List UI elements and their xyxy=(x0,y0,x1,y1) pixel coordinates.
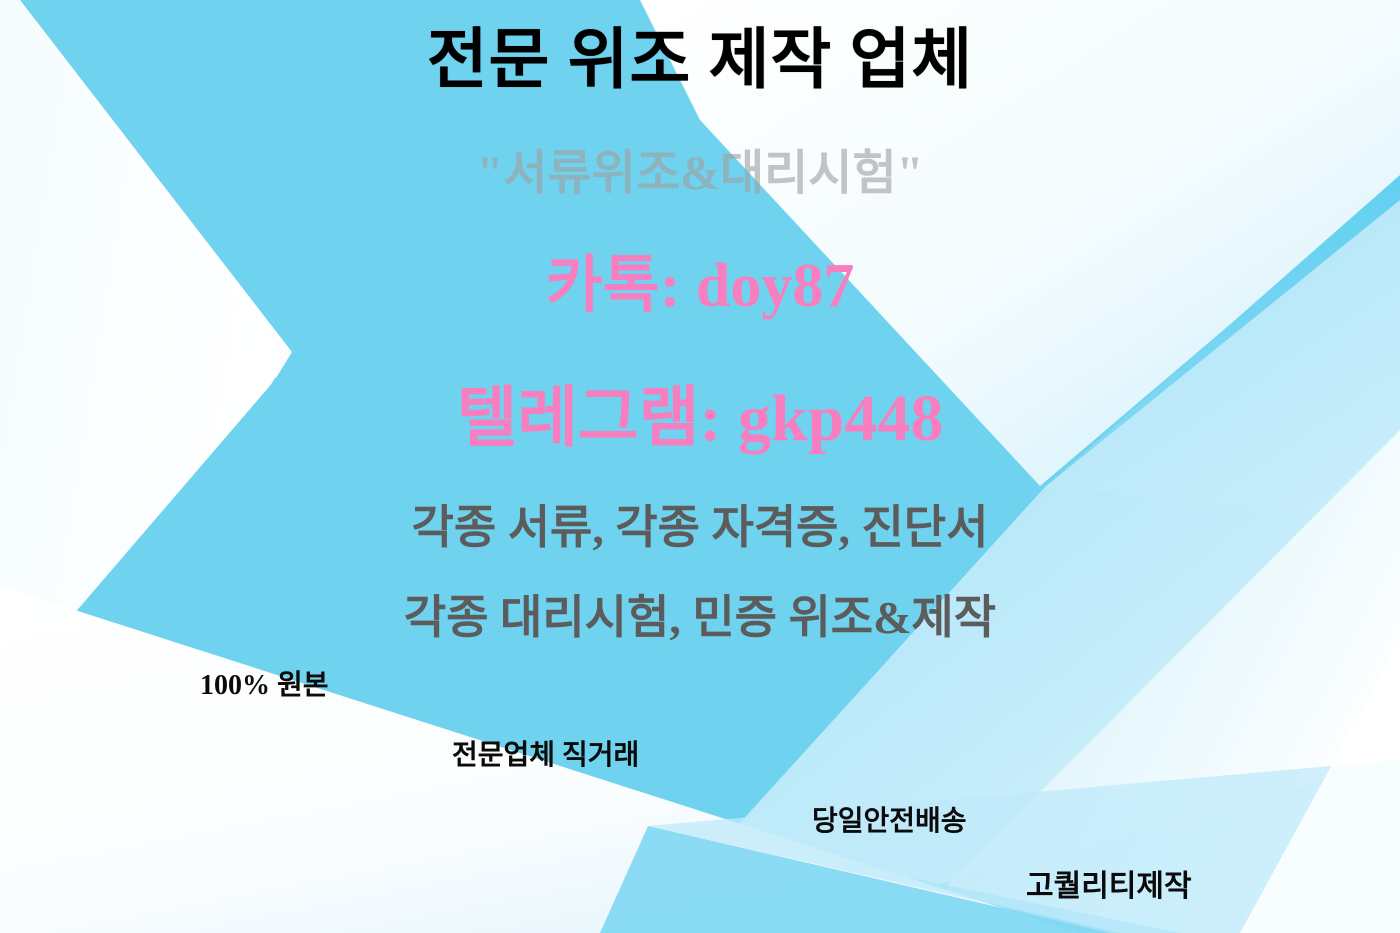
contact-kakao[interactable]: 카톡: doy87 xyxy=(0,255,1400,317)
service-line-2: 각종 대리시험, 민증 위조&제작 xyxy=(0,595,1400,641)
badge-original: 100% 원본 xyxy=(200,672,329,700)
page-title: 전문 위조 제작 업체 xyxy=(0,28,1400,94)
contact-telegram[interactable]: 텔레그램: gkp448 xyxy=(0,386,1400,452)
text-layer: 전문 위조 제작 업체 "서류위조&대리시험" 카톡: doy87 텔레그램: … xyxy=(0,0,1400,933)
badge-same-day-delivery: 당일안전배송 xyxy=(812,808,967,836)
badge-direct-deal: 전문업체 직거래 xyxy=(452,742,639,770)
badge-high-quality: 고퀄리티제작 xyxy=(1026,872,1192,902)
service-line-1: 각종 서류, 각종 자격증, 진단서 xyxy=(0,505,1400,551)
subtitle-watermark: "서류위조&대리시험" xyxy=(0,150,1400,198)
poster-canvas: 전문 위조 제작 업체 "서류위조&대리시험" 카톡: doy87 텔레그램: … xyxy=(0,0,1400,933)
